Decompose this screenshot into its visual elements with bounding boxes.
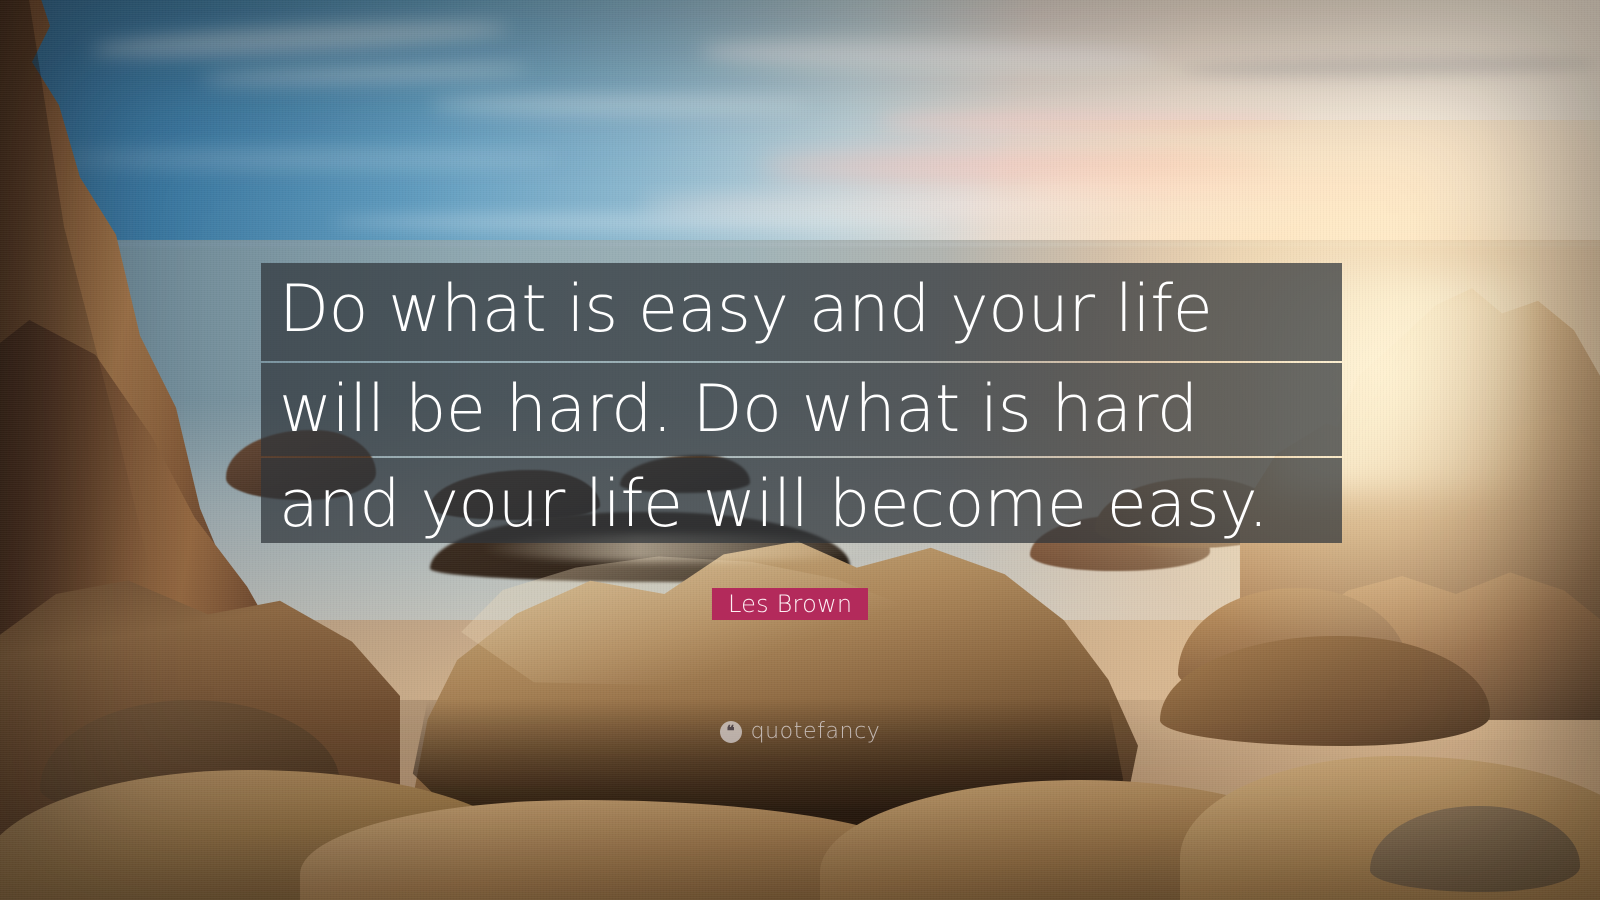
quote-line: and your life will become easy. <box>261 458 1342 543</box>
quote-line-text: will be hard. Do what is hard <box>279 377 1324 442</box>
quote-line-text: Do what is easy and your life <box>279 277 1324 342</box>
quote-card: Do what is easy and your life will be ha… <box>0 0 1600 900</box>
quote-line: Do what is easy and your life <box>261 263 1342 361</box>
quote-line: will be hard. Do what is hard <box>261 363 1342 456</box>
horizon-line <box>0 243 1600 246</box>
quote-line-text: and your life will become easy. <box>279 472 1324 537</box>
quote-text-block: Do what is easy and your life will be ha… <box>261 263 1342 543</box>
author-badge: Les Brown <box>712 588 868 620</box>
